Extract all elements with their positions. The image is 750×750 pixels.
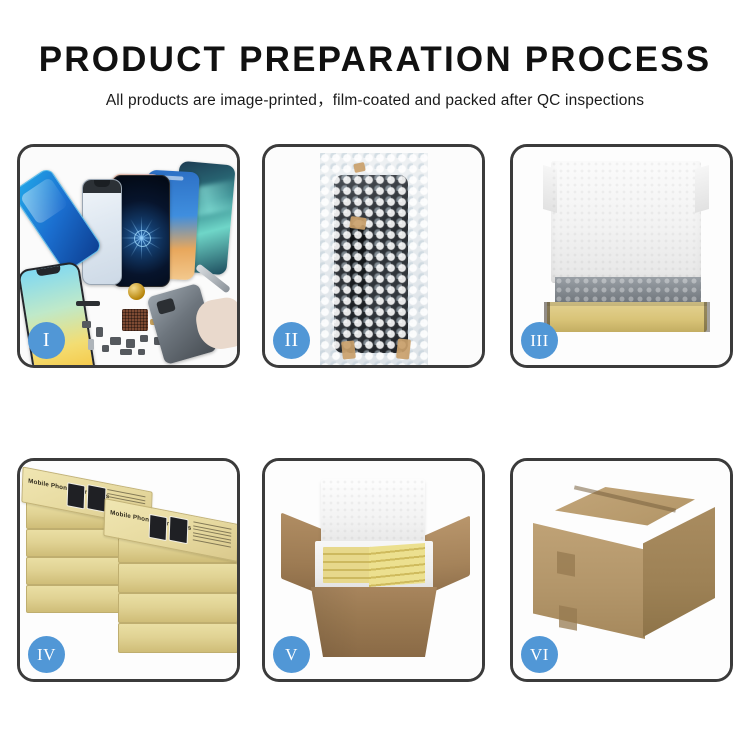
bubble-texture (320, 153, 428, 365)
flex-cable-part (76, 301, 100, 306)
carton-body (299, 587, 449, 657)
box-screen-image (169, 516, 189, 545)
shield-plate-part (122, 309, 148, 331)
step-badge-5: V (273, 636, 310, 673)
bubble-wrapped-part (320, 153, 428, 365)
step-panel-3: III (510, 144, 733, 368)
step-badge-4: IV (28, 636, 65, 673)
stacked-box (26, 557, 132, 585)
carton-tape (557, 551, 575, 576)
speaker-part-icon (128, 283, 145, 300)
tape-piece (396, 338, 411, 359)
sealed-carton (533, 487, 713, 643)
step-panel-1: I (17, 144, 240, 368)
process-steps-grid: I II (17, 144, 733, 682)
tape-piece (349, 216, 367, 230)
step-badge-6: VI (521, 636, 558, 673)
stacked-box (118, 623, 238, 653)
grey-bubble-padding (555, 277, 701, 305)
tape-piece (341, 340, 356, 359)
screen-burst-graphic (118, 215, 164, 261)
yellow-box-base (547, 302, 707, 332)
page-subtitle: All products are image-printed，film-coat… (0, 79, 750, 110)
foam-box-body (315, 541, 433, 593)
foam-lid (551, 161, 701, 283)
step-panel-6: VI (510, 458, 733, 682)
carton-front-face (533, 523, 645, 639)
yellow-boxes-inside (323, 547, 425, 583)
foam-box-lid (321, 479, 425, 545)
box-screen-image (67, 482, 86, 509)
carton-side-face (643, 507, 715, 637)
step-panel-4: Mobile Phone Spare Parts Mobile Phone Sp… (17, 458, 240, 682)
step-badge-2: II (273, 322, 310, 359)
stacked-box (118, 593, 238, 623)
page-title: PRODUCT PREPARATION PROCESS (0, 0, 750, 79)
stacked-box (118, 563, 238, 593)
step-badge-3: III (521, 322, 558, 359)
step-panel-5: V (262, 458, 485, 682)
page-header: PRODUCT PREPARATION PROCESS All products… (0, 0, 750, 110)
box-spec-lines (193, 521, 232, 552)
step-badge-1: I (28, 322, 65, 359)
step-panel-2: II (262, 144, 485, 368)
stacked-box (26, 585, 132, 613)
box-screen-image (149, 514, 168, 541)
carton-tape (559, 605, 577, 630)
